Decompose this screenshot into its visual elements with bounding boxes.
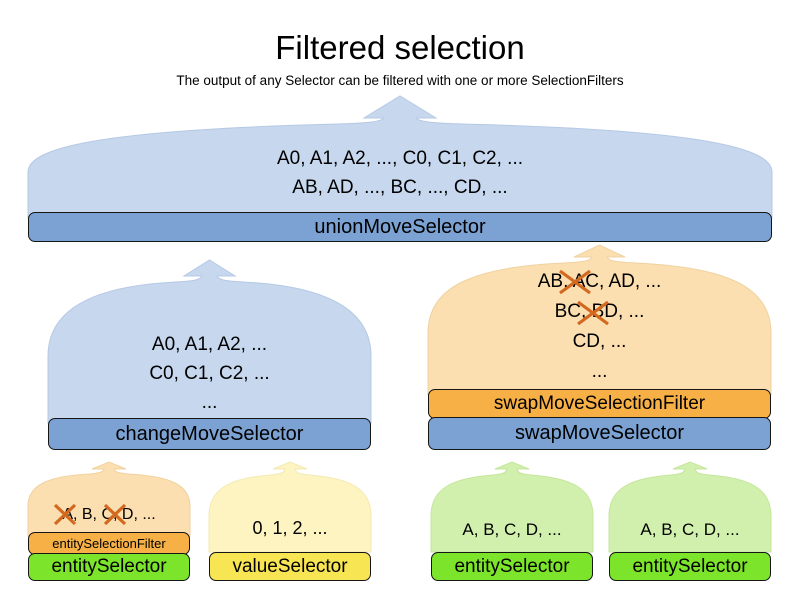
node-value-selector[interactable]: 0, 1, 2, ... valueSelector: [209, 462, 371, 570]
entity-filtered-output-dome: [28, 462, 190, 536]
swap-move-selector-bar[interactable]: swapMoveSelector: [428, 417, 771, 450]
page-subtitle: The output of any Selector can be filter…: [0, 68, 800, 90]
union-move-selector-bar[interactable]: unionMoveSelector: [28, 212, 772, 242]
value-output-dome: [209, 462, 371, 552]
change-output-dome: [48, 260, 371, 423]
node-entity-selector-filtered[interactable]: A, B, C, D, ... entitySelectionFilter en…: [28, 462, 190, 570]
swap-move-selection-filter-bar[interactable]: swapMoveSelectionFilter: [428, 389, 771, 419]
node-entity-selector-b[interactable]: A, B, C, D, ... entitySelector: [609, 462, 771, 570]
node-union-move-selector[interactable]: A0, A1, A2, ..., C0, C1, C2, ... AB, AD,…: [28, 96, 772, 242]
entity-a-output-dome: [431, 462, 593, 552]
page-title: Filtered selection: [0, 0, 800, 68]
diagram-header: Filtered selection The output of any Sel…: [0, 0, 800, 90]
node-swap-move-selector[interactable]: AB, AC, AD, ... BC, BD, ... CD, ... ... …: [428, 245, 771, 451]
entity-selector-filtered-bar[interactable]: entitySelector: [28, 553, 190, 581]
diagram-canvas: Filtered selection The output of any Sel…: [0, 0, 800, 600]
entity-b-output-dome: [609, 462, 771, 552]
node-change-move-selector[interactable]: A0, A1, A2, ... C0, C1, C2, ... ... chan…: [48, 260, 371, 450]
value-selector-bar[interactable]: valueSelector: [209, 552, 371, 581]
union-output-dome: [28, 96, 772, 218]
node-entity-selector-a[interactable]: A, B, C, D, ... entitySelector: [431, 462, 593, 570]
swap-output-dome: [428, 245, 771, 395]
entity-selector-a-bar[interactable]: entitySelector: [431, 552, 593, 581]
entity-selector-b-bar[interactable]: entitySelector: [609, 552, 771, 581]
entity-selection-filter-bar[interactable]: entitySelectionFilter: [28, 532, 190, 555]
change-move-selector-bar[interactable]: changeMoveSelector: [48, 418, 371, 450]
